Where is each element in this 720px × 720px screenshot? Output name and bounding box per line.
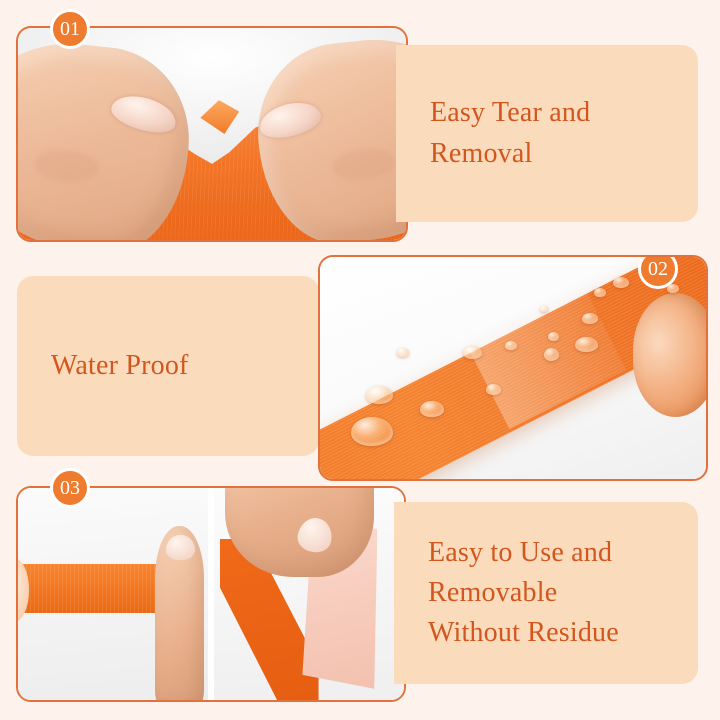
water-droplet <box>366 386 393 404</box>
water-droplet <box>505 341 517 350</box>
water-droplet <box>463 346 482 359</box>
apply-tape-photo <box>18 488 208 700</box>
feature-3-step-badge: 03 <box>50 468 90 508</box>
water-droplet <box>582 313 597 324</box>
water-droplet <box>613 277 628 288</box>
infographic-canvas: 01 Easy Tear and Removal Water Proof 02 <box>0 0 720 720</box>
feature-1-headline: Easy Tear and Removal <box>396 93 590 174</box>
headline-line: Removable <box>428 573 619 613</box>
water-droplet <box>351 417 393 446</box>
water-droplet <box>397 348 409 357</box>
water-droplet <box>575 337 598 353</box>
water-droplet <box>420 401 443 417</box>
feature-2-text-panel: Water Proof <box>17 276 319 456</box>
feature-1-image <box>16 26 408 242</box>
feature-3-text-panel: Easy to Use and Removable Without Residu… <box>394 502 698 684</box>
headline-line: Water Proof <box>51 346 189 387</box>
headline-line: Without Residue <box>428 613 619 653</box>
headline-line: Easy to Use and <box>428 533 619 573</box>
feature-3-headline: Easy to Use and Removable Without Residu… <box>394 533 619 652</box>
tape-roll <box>633 293 708 417</box>
water-droplet <box>594 288 606 297</box>
feature-2-image: 02 <box>318 255 708 481</box>
feature-1-text-panel: Easy Tear and Removal <box>396 45 698 222</box>
headline-line: Easy Tear and <box>430 93 590 134</box>
feature-3-image <box>16 486 406 702</box>
feature-2-headline: Water Proof <box>17 346 189 387</box>
split-photo <box>18 488 404 700</box>
headline-line: Removal <box>430 134 590 175</box>
finger-nail <box>166 535 194 560</box>
water-droplet <box>486 384 501 395</box>
feature-1-step-badge: 01 <box>50 9 90 49</box>
peel-tape-photo <box>214 488 404 700</box>
